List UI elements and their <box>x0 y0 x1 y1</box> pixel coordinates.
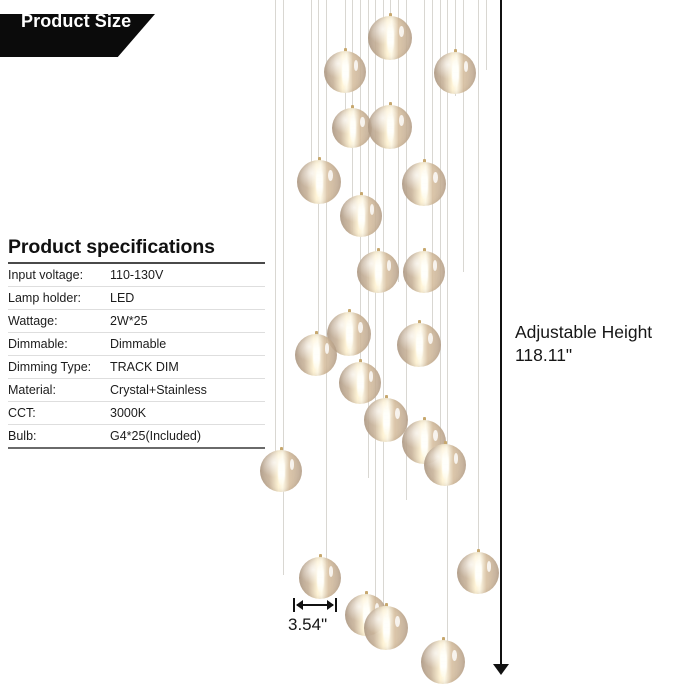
crystal-globe <box>339 362 381 404</box>
spec-value: Crystal+Stainless <box>110 379 265 402</box>
spec-row: CCT:3000K <box>8 402 265 425</box>
suspension-cord <box>375 0 376 610</box>
spec-label: Dimming Type: <box>8 356 110 379</box>
suspension-cord <box>424 0 425 180</box>
crystal-globe <box>297 160 341 204</box>
crystal-globe <box>368 105 412 149</box>
product-specifications-block: Product specifications Input voltage:110… <box>8 236 265 449</box>
suspension-cord <box>383 0 384 628</box>
spec-row: Dimming Type:TRACK DIM <box>8 356 265 379</box>
width-arrow-left-icon <box>296 600 303 610</box>
width-arrow-right-icon <box>327 600 334 610</box>
spec-label: CCT: <box>8 402 110 425</box>
width-dimension-label: 3.54" <box>288 615 327 635</box>
spec-label: Material: <box>8 379 110 402</box>
spec-label: Bulb: <box>8 425 110 449</box>
crystal-globe <box>434 52 476 94</box>
spec-row: Input voltage:110-130V <box>8 264 265 287</box>
product-size-infographic: Product Size Product specifications Inpu… <box>0 0 679 687</box>
specifications-table: Input voltage:110-130VLamp holder:LEDWat… <box>8 264 265 449</box>
crystal-globe <box>260 450 302 492</box>
height-dimension-line <box>500 0 502 668</box>
width-endcap-left <box>293 598 295 612</box>
crystal-globe <box>403 251 445 293</box>
adjustable-height-value: 118.11" <box>515 344 652 367</box>
spec-value: LED <box>110 287 265 310</box>
suspension-cord <box>463 0 464 272</box>
spec-value: G4*25(Included) <box>110 425 265 449</box>
crystal-globe <box>295 334 337 376</box>
suspension-cord <box>486 0 487 70</box>
adjustable-height-title: Adjustable Height <box>515 321 652 344</box>
spec-label: Lamp holder: <box>8 287 110 310</box>
height-arrow-down-icon <box>493 664 509 675</box>
spec-value: 110-130V <box>110 264 265 287</box>
spec-value: Dimmable <box>110 333 265 356</box>
suspension-cord <box>311 0 312 185</box>
spec-row: Lamp holder:LED <box>8 287 265 310</box>
suspension-cord <box>275 0 276 455</box>
adjustable-height-label: Adjustable Height 118.11" <box>515 321 652 368</box>
crystal-globe <box>424 444 466 486</box>
spec-value: 3000K <box>110 402 265 425</box>
crystal-globe <box>357 251 399 293</box>
suspension-cord <box>326 0 327 573</box>
width-dimension-arrow <box>293 598 337 612</box>
crystal-globe <box>368 16 412 60</box>
crystal-globe <box>402 162 446 206</box>
crystal-globe <box>324 51 366 93</box>
spec-label: Wattage: <box>8 310 110 333</box>
suspension-cord <box>478 0 479 558</box>
spec-row: Material:Crystal+Stainless <box>8 379 265 402</box>
crystal-globe <box>457 552 499 594</box>
suspension-cord <box>447 0 448 660</box>
crystal-globe <box>332 108 372 148</box>
spec-label: Dimmable: <box>8 333 110 356</box>
crystal-globe <box>421 640 465 684</box>
spec-value: 2W*25 <box>110 310 265 333</box>
crystal-globe <box>340 195 382 237</box>
crystal-globe <box>364 606 408 650</box>
crystal-globe <box>299 557 341 599</box>
crystal-globe <box>364 398 408 442</box>
spec-value: TRACK DIM <box>110 356 265 379</box>
product-specifications-heading: Product specifications <box>8 236 265 262</box>
spec-label: Input voltage: <box>8 264 110 287</box>
width-endcap-right <box>335 598 337 612</box>
crystal-globe <box>397 323 441 367</box>
spec-row: Wattage:2W*25 <box>8 310 265 333</box>
spec-row: Bulb:G4*25(Included) <box>8 425 265 449</box>
spec-row: Dimmable:Dimmable <box>8 333 265 356</box>
